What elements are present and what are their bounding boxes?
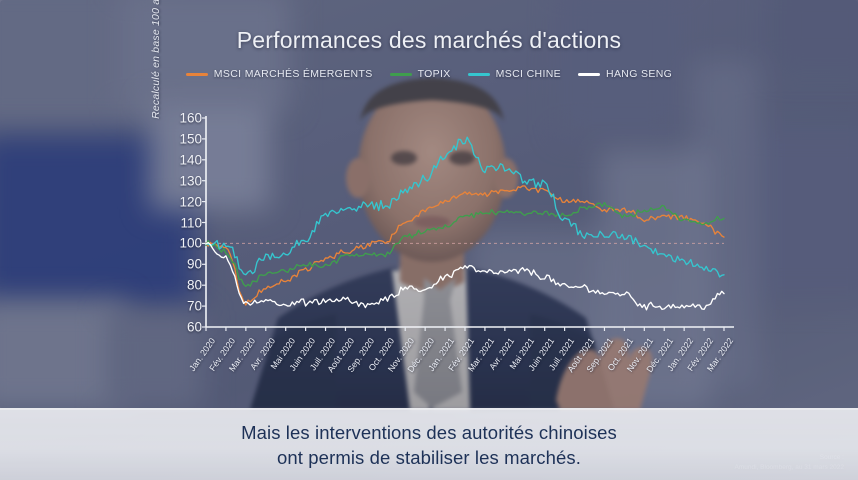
chart-container: Recalculé en base 100 au 1er janvier 202…	[0, 0, 858, 410]
x-axis-ticks: Jan. 2020Fév. 2020Mar. 2020Avr. 2020Mai …	[0, 0, 858, 410]
video-frame: Performances des marchés d'actions MSCI …	[0, 0, 858, 480]
caption-line-1: Mais les interventions des autorités chi…	[241, 421, 617, 444]
caption-bar: Mais les interventions des autorités chi…	[0, 408, 858, 480]
caption-line-2: ont permis de stabiliser les marchés.	[277, 446, 581, 469]
